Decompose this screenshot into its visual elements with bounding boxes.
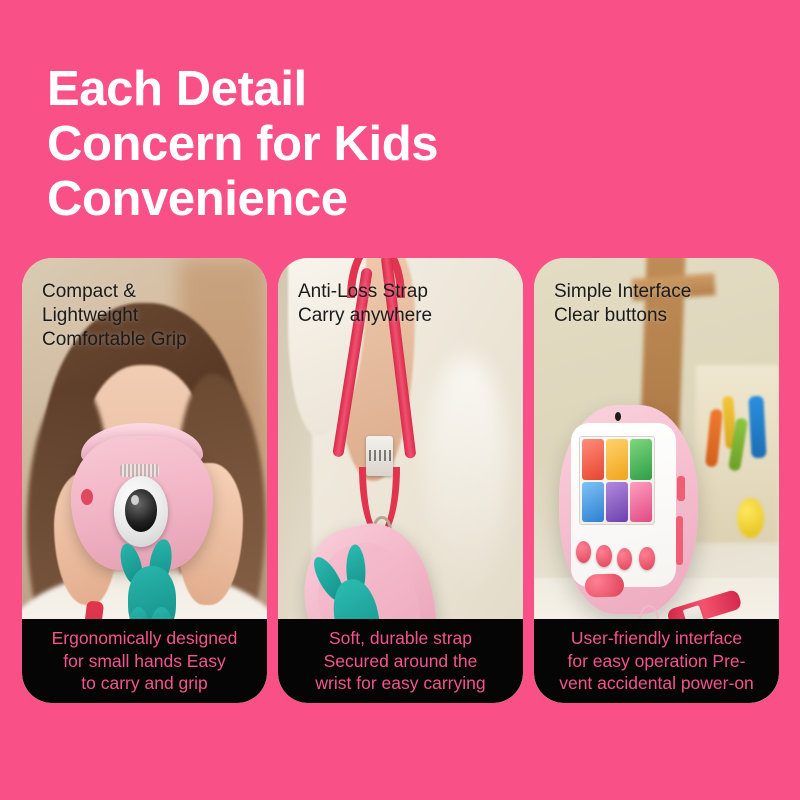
panel-caption-simple-interface: User-friendly interface for easy operati…: [534, 619, 779, 703]
feature-panel-anti-loss-strap: Anti-Loss Strap Carry anywhere Soft, dur…: [278, 258, 523, 703]
caption-line: Secured around the: [324, 650, 478, 673]
headline-line-1: Each Detail: [47, 62, 667, 117]
page-title: Each Detail Concern for Kids Convenience: [47, 62, 667, 227]
camera-button-1: [576, 541, 591, 563]
feature-panel-simple-interface: Simple Interface Clear buttons User-frie…: [534, 258, 779, 703]
panel-heading-anti-loss-strap: Anti-Loss Strap Carry anywhere: [298, 280, 432, 328]
menu-icon-camera: [582, 439, 604, 480]
panel-heading-compact-lightweight: Compact & Lightweight Comfortable Grip: [42, 280, 187, 352]
panel-heading-line: Compact &: [42, 280, 187, 304]
caption-line: User-friendly interface: [571, 627, 742, 650]
camera-menu-screen: [579, 436, 655, 525]
camera-button-4: [639, 547, 654, 569]
headline-line-2: Concern for Kids: [47, 117, 667, 172]
camera-button-2: [596, 545, 611, 567]
menu-icon-settings: [630, 439, 652, 480]
panel-caption-compact-lightweight: Ergonomically designed for small hands E…: [22, 619, 267, 703]
panel-heading-line: Carry anywhere: [298, 304, 432, 328]
headline-line-3: Convenience: [47, 172, 667, 227]
menu-icon-games: [630, 482, 652, 523]
panel-heading-simple-interface: Simple Interface Clear buttons: [554, 280, 691, 328]
caption-line: for small hands Easy: [63, 650, 225, 673]
camera-dpad: [585, 573, 625, 597]
panel-heading-line: Lightweight: [42, 304, 187, 328]
panel-heading-line: Anti-Loss Strap: [298, 280, 432, 304]
feature-panel-compact-lightweight: Compact & Lightweight Comfortable Grip E…: [22, 258, 267, 703]
panel-heading-line: Simple Interface: [554, 280, 691, 304]
caption-line: Soft, durable strap: [329, 627, 472, 650]
panel-heading-line: Clear buttons: [554, 304, 691, 328]
feature-panel-row: Compact & Lightweight Comfortable Grip E…: [22, 258, 779, 703]
caption-line: for easy operation Pre-: [567, 650, 745, 673]
caption-line: wrist for easy carrying: [315, 672, 485, 695]
menu-icon-video: [606, 439, 628, 480]
panel-heading-line: Comfortable Grip: [42, 328, 187, 352]
caption-line: vent accidental power-on: [559, 672, 754, 695]
menu-icon-gallery: [582, 482, 604, 523]
caption-line: to carry and grip: [81, 672, 207, 695]
menu-icon-frames: [606, 482, 628, 523]
caption-line: Ergonomically designed: [52, 627, 238, 650]
panel-caption-anti-loss-strap: Soft, durable strap Secured around the w…: [278, 619, 523, 703]
